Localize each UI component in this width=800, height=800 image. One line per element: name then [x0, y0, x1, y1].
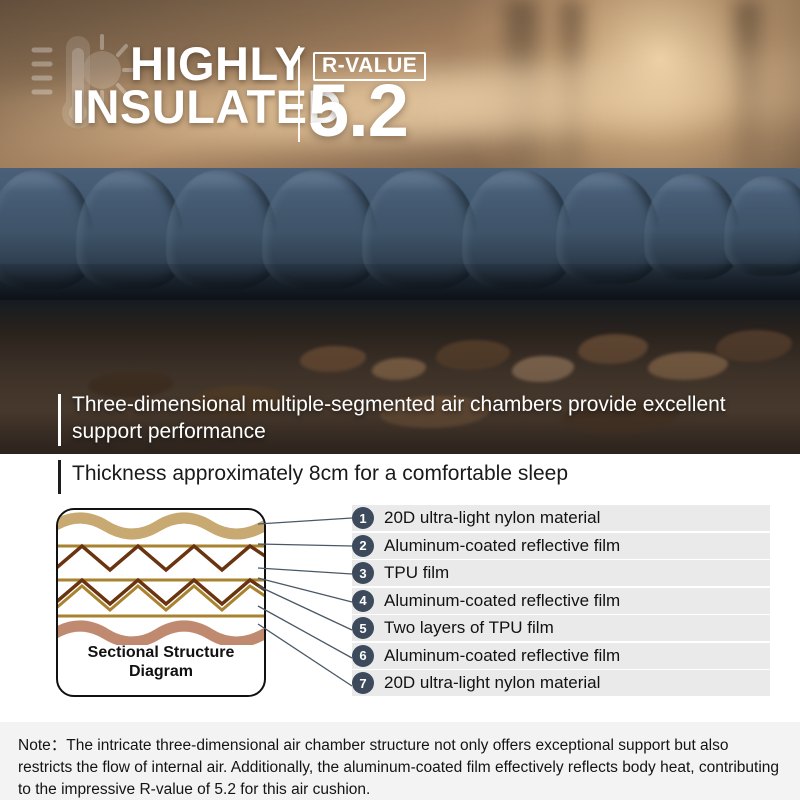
layer-row: 7 20D ultra-light nylon material [352, 670, 770, 696]
layer-number-badge: 6 [352, 645, 374, 667]
accent-bar [58, 394, 61, 446]
header-banner: HIGHLY INSULATED R-VALUE 5.2 [0, 0, 800, 168]
layer-label: 20D ultra-light nylon material [384, 508, 600, 528]
header-divider [298, 46, 300, 142]
layer-number-badge: 3 [352, 562, 374, 584]
feature-air-chambers: Three-dimensional multiple-segmented air… [58, 392, 738, 446]
layer-list: 1 20D ultra-light nylon material 2 Alumi… [352, 505, 772, 698]
layer-label: Aluminum-coated reflective film [384, 536, 620, 556]
layer-row: 1 20D ultra-light nylon material [352, 505, 770, 531]
layer-label: Aluminum-coated reflective film [384, 646, 620, 666]
note-banner: Note：The intricate three-dimensional air… [0, 722, 800, 800]
title-line-1: HIGHLY [130, 42, 300, 85]
feature-thickness-text: Thickness approximately 8cm for a comfor… [72, 460, 758, 487]
layer-row: 2 Aluminum-coated reflective film [352, 533, 770, 559]
feature-thickness: Thickness approximately 8cm for a comfor… [58, 460, 758, 487]
layer-row: 4 Aluminum-coated reflective film [352, 588, 770, 614]
layer-label: Aluminum-coated reflective film [384, 591, 620, 611]
layer-label: Two layers of TPU film [384, 618, 554, 638]
layer-number-badge: 4 [352, 590, 374, 612]
note-text: Note：The intricate three-dimensional air… [0, 722, 800, 800]
layer-number-badge: 2 [352, 535, 374, 557]
layer-row: 5 Two layers of TPU film [352, 615, 770, 641]
layer-label: TPU film [384, 563, 449, 583]
accent-bar [58, 460, 61, 494]
title-line-2: INSULATED [72, 85, 302, 128]
infographic-page: HIGHLY INSULATED R-VALUE 5.2 Three-dimen… [0, 0, 800, 800]
layer-number-badge: 5 [352, 617, 374, 639]
page-title: HIGHLY INSULATED [130, 42, 300, 128]
r-value-number: 5.2 [308, 74, 408, 148]
feature-air-chambers-text: Three-dimensional multiple-segmented air… [72, 392, 738, 446]
layer-label: 20D ultra-light nylon material [384, 673, 600, 693]
layer-row: 6 Aluminum-coated reflective film [352, 643, 770, 669]
layer-number-badge: 1 [352, 507, 374, 529]
layer-number-badge: 7 [352, 672, 374, 694]
layer-row: 3 TPU film [352, 560, 770, 586]
